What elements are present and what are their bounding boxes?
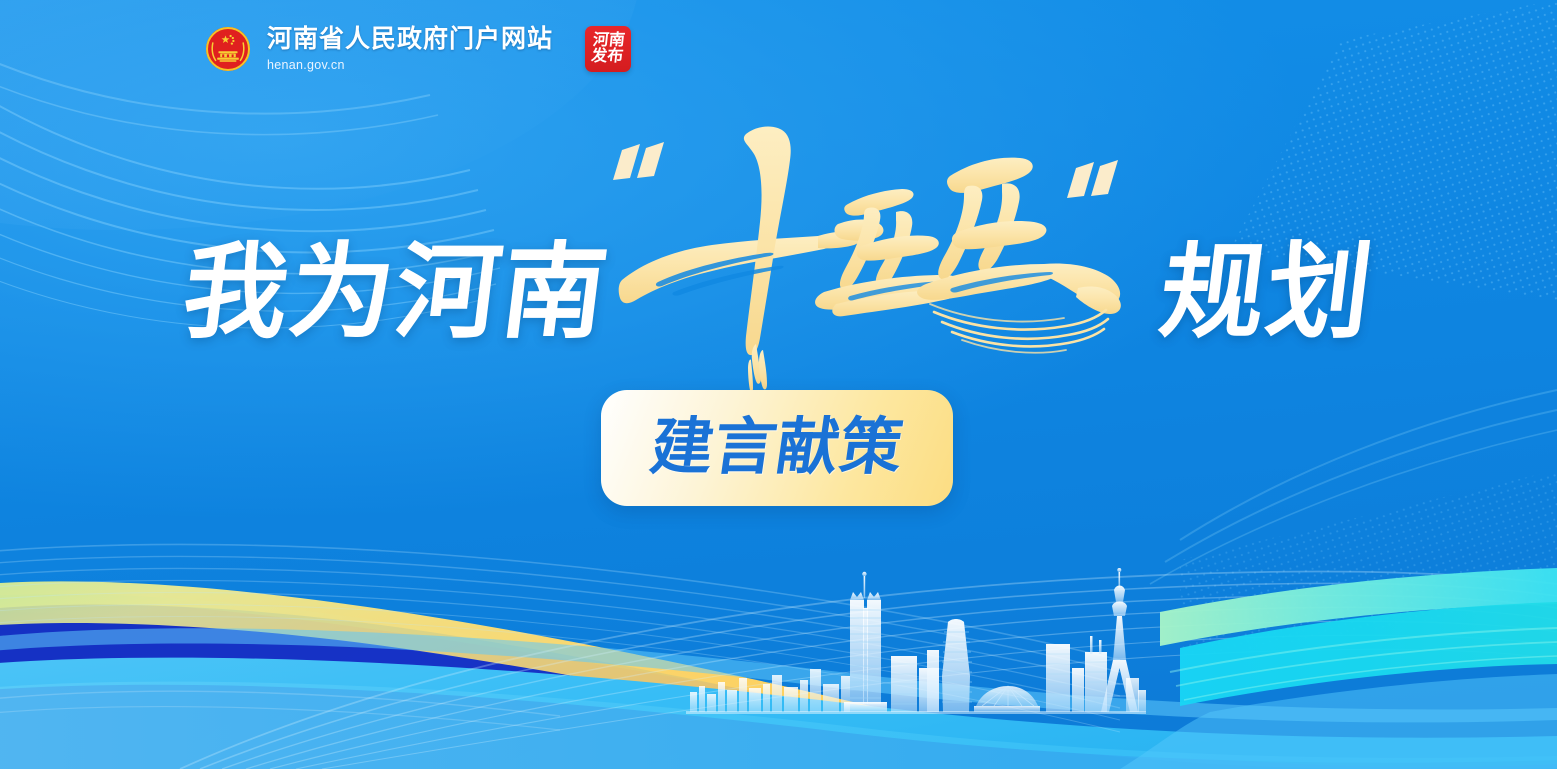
sub-badge-label: 建言献策 (647, 417, 908, 479)
headline-right: 规划 (1154, 241, 1379, 345)
site-header: 河南省人民政府门户网站 henan.gov.cn 河南 发布 (205, 26, 631, 72)
site-identity: 河南省人民政府门户网站 henan.gov.cn (267, 27, 553, 72)
site-url: henan.gov.cn (267, 59, 553, 72)
headline-left: 我为河南 (178, 241, 615, 345)
publish-badge-line2: 发布 (590, 49, 624, 65)
background-decoration (0, 0, 1557, 769)
hero-headline: 我为河南 规划 (0, 218, 1557, 368)
banner-stage: 河南省人民政府门户网站 henan.gov.cn 河南 发布 我为河南 规划 (0, 0, 1557, 769)
national-emblem-icon (205, 26, 251, 72)
publish-badge-line1: 河南 (592, 33, 626, 49)
site-name: 河南省人民政府门户网站 (267, 27, 553, 52)
sub-badge[interactable]: 建言献策 (601, 390, 953, 506)
henan-publish-badge-icon[interactable]: 河南 发布 (585, 26, 631, 72)
